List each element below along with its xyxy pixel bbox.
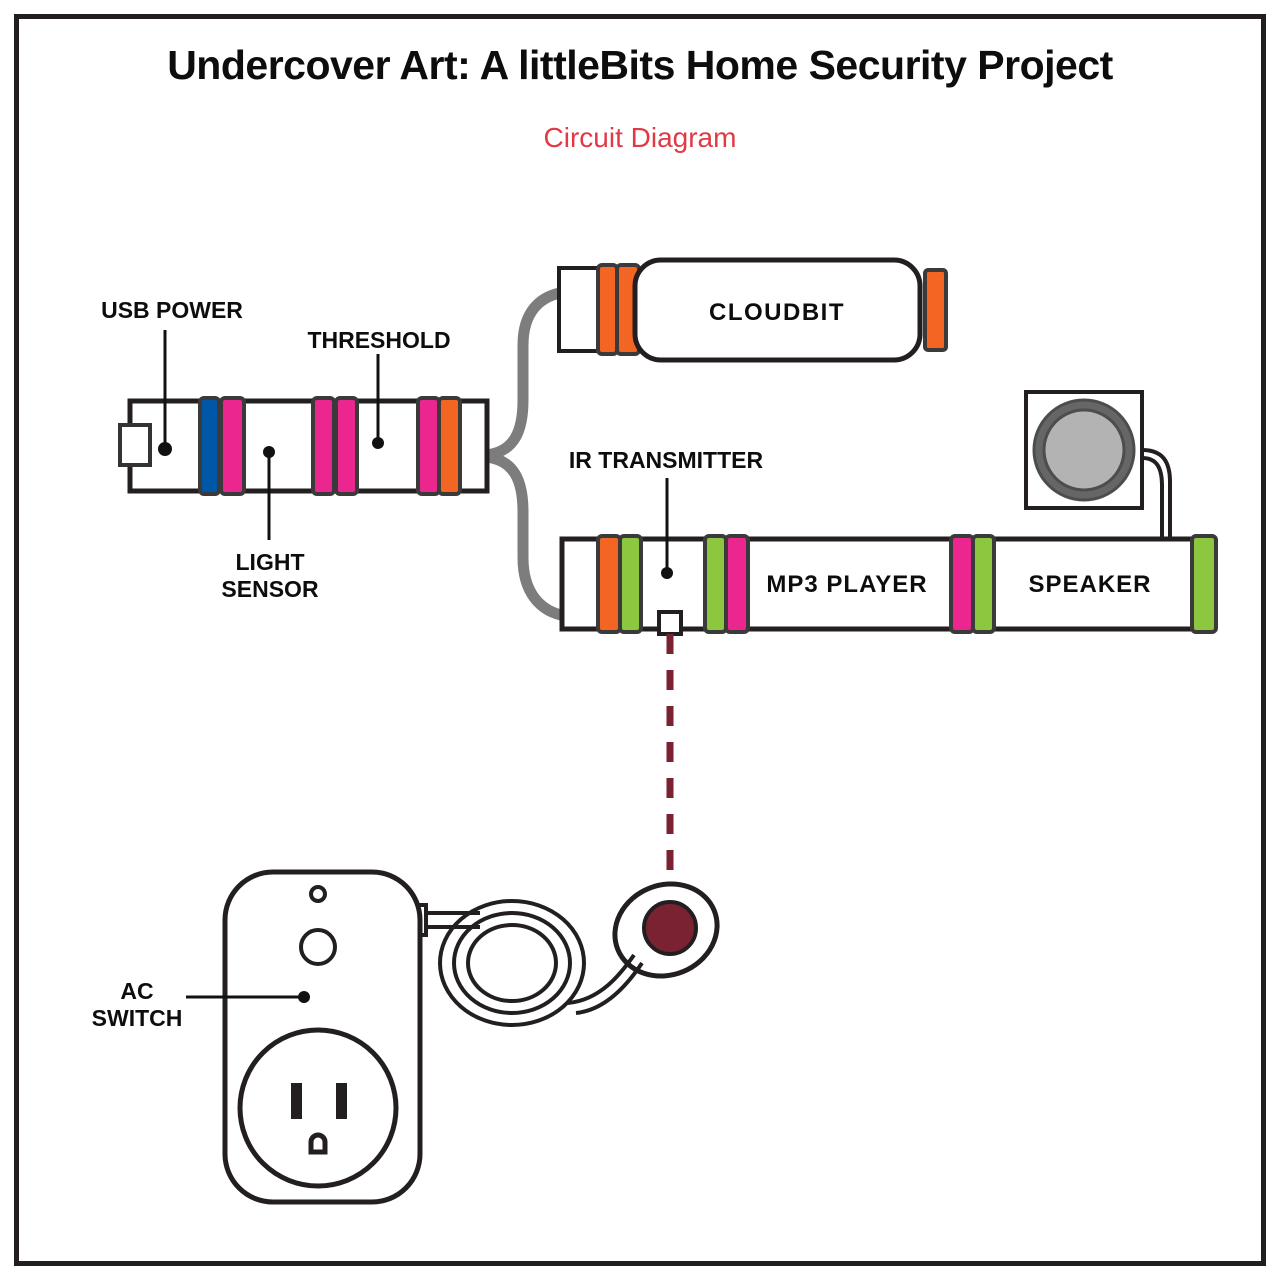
- leader-dot-usb-power: [158, 442, 172, 456]
- label-ir-transmitter: IR TRANSMITTER: [569, 447, 764, 473]
- ir-receiver-eye: [644, 902, 696, 954]
- diagram-canvas: Undercover Art: A littleBits Home Securi…: [0, 0, 1280, 1280]
- ac-switch-led: [311, 887, 325, 901]
- cloudbit-input-plug: [559, 268, 601, 351]
- connector-pink-mp3-in: [726, 536, 748, 632]
- connector-pink-1: [221, 398, 244, 494]
- connector-pink-4: [418, 398, 439, 494]
- cloudbit-label: CLOUDBIT: [709, 299, 845, 326]
- usb-plug-nub: [120, 425, 150, 465]
- connector-green-spk-in: [973, 536, 994, 632]
- connector-orange-cb-out: [925, 270, 946, 350]
- label-threshold: THRESHOLD: [307, 327, 450, 353]
- connector-orange-ir: [598, 536, 620, 632]
- bottom-bit-strip: MP3 PLAYER SPEAKER: [562, 536, 1216, 634]
- ac-switch-cord: [419, 901, 642, 1025]
- label-ac-switch-line1: AC: [120, 978, 153, 1004]
- mp3-player-label: MP3 PLAYER: [766, 571, 927, 598]
- label-light-sensor-line2: SENSOR: [221, 576, 319, 602]
- cloudbit-module: CLOUDBIT: [559, 260, 946, 360]
- ac-outlet-slot-right: [336, 1083, 347, 1119]
- connector-pink-mp3-out: [951, 536, 973, 632]
- leader-dot-ac-switch: [298, 991, 310, 1003]
- ac-switch-module: [225, 872, 420, 1202]
- splitter-cable: [486, 292, 566, 616]
- label-ac-switch-line2: SWITCH: [92, 1005, 183, 1031]
- connector-green-ir: [620, 536, 641, 632]
- leader-dot-threshold: [372, 437, 384, 449]
- ac-outlet-slot-left: [291, 1083, 302, 1119]
- left-bit-strip: [120, 398, 487, 494]
- connector-pink-2: [313, 398, 334, 494]
- connector-orange-1: [439, 398, 460, 494]
- connector-orange-cb-1: [598, 265, 617, 354]
- speaker-label: SPEAKER: [1028, 571, 1151, 598]
- connector-pink-3: [336, 398, 357, 494]
- ac-outlet-face: [240, 1030, 396, 1186]
- label-light-sensor-line1: LIGHT: [236, 549, 305, 575]
- leader-dot-ir-transmitter: [661, 567, 673, 579]
- ir-emitter-nub: [659, 612, 681, 634]
- connector-green-spk-out: [1192, 536, 1216, 632]
- connector-green-mp3-in: [705, 536, 726, 632]
- ac-switch-button: [301, 930, 335, 964]
- circuit-artwork: USB POWER LIGHT SENSOR THRESHOLD CLOUDBI…: [0, 0, 1280, 1280]
- label-usb-power: USB POWER: [101, 297, 243, 323]
- leader-dot-light-sensor: [263, 446, 275, 458]
- connector-blue: [200, 398, 219, 494]
- speaker-cone: [1044, 410, 1124, 490]
